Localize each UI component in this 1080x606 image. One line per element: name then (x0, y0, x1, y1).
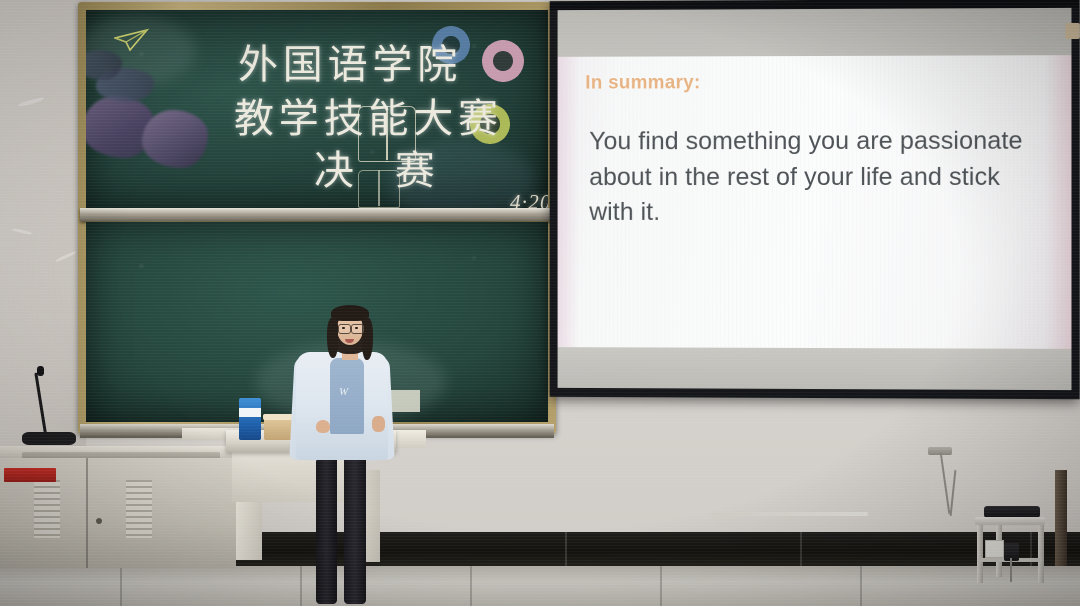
board-date: 4·20 (510, 190, 548, 210)
presenter-hand-left (316, 420, 330, 433)
board-heading-line2: 教学技能大赛 (234, 86, 503, 144)
presenter-hair-right (362, 318, 373, 360)
screen-blank-top (558, 8, 1072, 57)
gear-pink-icon (482, 40, 524, 82)
projector-screen[interactable]: In summary: You find something you are p… (550, 0, 1080, 399)
presenter-eye-right (355, 327, 358, 329)
left-wall (0, 0, 86, 470)
outlet-faceplate[interactable] (985, 540, 1004, 558)
slide-body-text: You find something you are passionate ab… (589, 124, 1041, 231)
slide-title: In summary: (585, 72, 700, 94)
microphone-capsule (37, 366, 44, 376)
blackboard-chalk-ledge (80, 208, 554, 221)
paper-plane-icon (114, 28, 150, 54)
screen-surface: In summary: You find something you are p… (558, 8, 1072, 390)
presenter-eye-left (342, 327, 345, 329)
metal-stool-top (975, 517, 1045, 525)
microphone-base (22, 432, 76, 445)
presenter-hair-left (327, 318, 338, 358)
screen-mount-bracket (1065, 23, 1079, 39)
cabinet-red-label (4, 468, 56, 482)
presenter-leg-left (316, 456, 337, 604)
outlet-cable (1010, 558, 1012, 582)
glasses-left-lens (338, 324, 351, 334)
classroom-scene: 外国语学院 教学技能大赛 决 赛 4·20 Unit 1 Can you pla… (0, 0, 1080, 606)
wall-rail (712, 512, 868, 516)
paper-cup-box[interactable] (264, 418, 292, 440)
floor (0, 566, 1080, 606)
presenter-hand-right (372, 416, 385, 432)
presenter-shirt-logo: W (339, 386, 355, 399)
board-heading-line1: 外国语学院 (238, 32, 462, 90)
presenter-leg-right (344, 456, 366, 604)
wooden-post (1055, 470, 1067, 566)
blackboard-top-panel: 外国语学院 教学技能大赛 决 赛 4·20 (86, 10, 548, 210)
glasses-right-lens (351, 324, 364, 334)
screen-blank-bottom (558, 347, 1072, 390)
backpack-right-doodle (142, 110, 208, 168)
tissue-box[interactable] (239, 398, 261, 440)
board-heading-line3: 决 赛 (314, 138, 449, 196)
presentation-slide: In summary: You find something you are p… (558, 55, 1072, 349)
